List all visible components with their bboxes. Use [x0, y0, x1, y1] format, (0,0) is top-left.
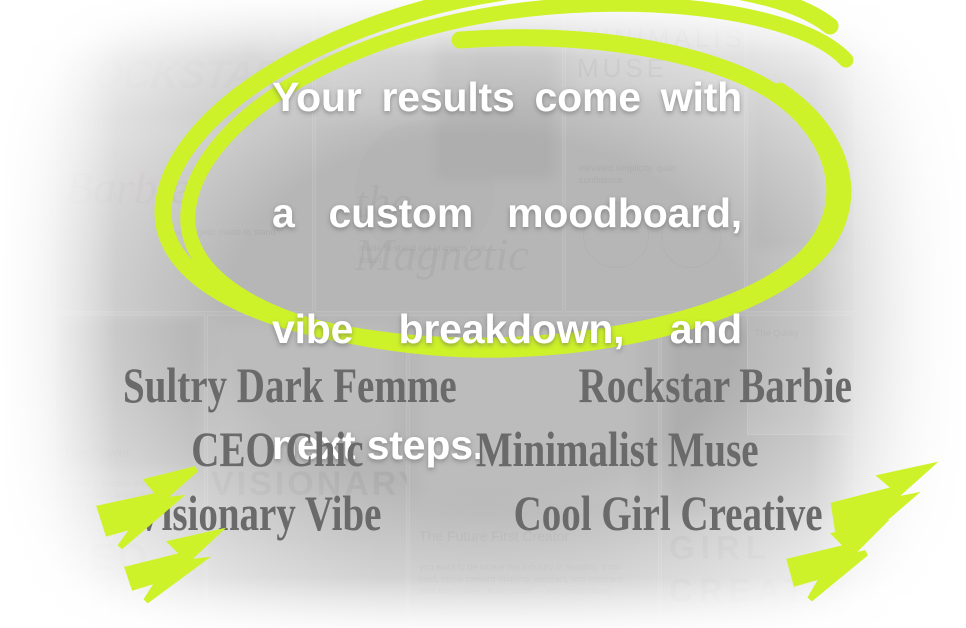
style-name-list: Sultry Dark Femme Rockstar Barbie CEO Ch…: [0, 352, 966, 546]
style-name-ceo-chic: CEO Chic: [192, 416, 364, 482]
style-name-sultry-dark-femme: Sultry Dark Femme: [123, 352, 457, 418]
headline-line-2: a custom moodboard,: [272, 184, 742, 300]
style-name-cool-girl-creative: Cool Girl Creative: [514, 480, 823, 546]
promo-canvas: ROCKSTAR Barbie unapologetic made to sta…: [0, 0, 966, 628]
style-name-rockstar-barbie: Rockstar Barbie: [578, 352, 851, 418]
style-name-row: Visionary Vibe Cool Girl Creative: [0, 480, 966, 546]
headline-line-1: Your results come with: [272, 68, 742, 184]
style-name-minimalist-muse: Minimalist Muse: [476, 416, 759, 482]
style-name-row: Sultry Dark Femme Rockstar Barbie: [0, 352, 966, 418]
style-name-row: CEO Chic Minimalist Muse: [0, 416, 966, 482]
style-name-visionary-vibe: Visionary Vibe: [135, 480, 382, 546]
